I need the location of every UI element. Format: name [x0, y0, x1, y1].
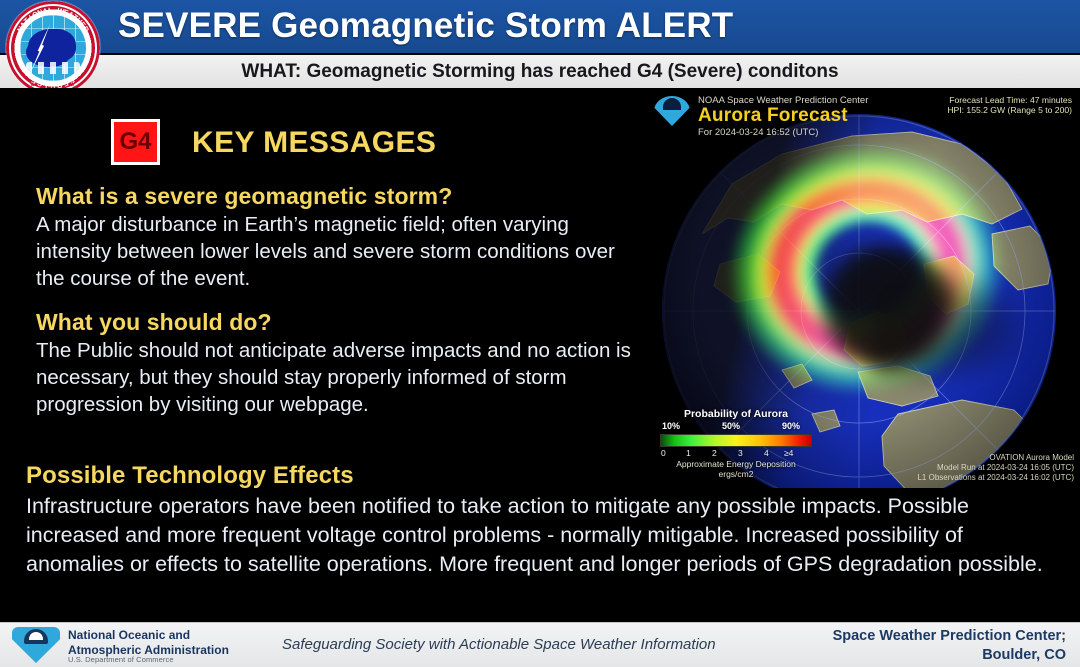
national-weather-service-seal: NATIONAL WEATHERSERVICE: [6, 1, 100, 95]
section-body: A major disturbance in Earth’s magnetic …: [36, 212, 636, 293]
legend-pct-50: 50%: [722, 421, 740, 431]
aurora-forecast-title: Aurora Forecast: [698, 105, 848, 127]
legend-tick-labels: 0 1 2 3 4 ≥4: [660, 448, 812, 460]
status-badge: G4: [111, 119, 160, 165]
aurora-oval-gap: [872, 266, 1022, 386]
key-messages-heading: KEY MESSAGES: [192, 126, 436, 160]
model-run-time: Model Run at 2024-03-24 16:05 (UTC): [937, 463, 1074, 472]
legend-title: Probability of Aurora: [660, 408, 812, 420]
center-location: Boulder, CO: [766, 646, 1066, 665]
legend-tick-0: 0: [661, 448, 666, 458]
department-of-commerce-line: U.S. Department of Commerce: [68, 655, 174, 664]
legend-caption-line2: ergs/cm2: [660, 470, 812, 480]
noaa-logo-icon: [654, 96, 690, 126]
legend-tick-4: 4: [764, 448, 769, 458]
legend-color-bar: [660, 434, 812, 447]
legend-percent-labels: 10% 50% 90%: [660, 421, 812, 433]
noaa-agency-line1: National Oceanic and: [68, 628, 229, 643]
footer-center-info: Space Weather Prediction Center; Boulder…: [766, 627, 1066, 665]
forecast-lead-time: Forecast Lead Time: 47 minutes: [949, 95, 1072, 105]
space-weather-alert-poster: SEVERE Geomagnetic Storm ALERT WHAT: Geo…: [0, 0, 1080, 666]
legend-tick-3: 3: [738, 448, 743, 458]
hemispheric-power-index: HPI: 155.2 GW (Range 5 to 200): [947, 105, 1072, 115]
section-body: The Public should not anticipate adverse…: [36, 338, 636, 419]
noaa-footer-logo-icon: [12, 627, 60, 663]
aurora-probability-legend: Probability of Aurora 10% 50% 90% 0 1 2 …: [660, 408, 812, 480]
section-what-is-storm: What is a severe geomagnetic storm? A ma…: [36, 183, 636, 293]
l1-observation-time: L1 Observations at 2024-03-24 16:02 (UTC…: [917, 473, 1074, 482]
section-heading: What is a severe geomagnetic storm?: [36, 183, 636, 210]
legend-pct-90: 90%: [782, 421, 800, 431]
legend-tick-ge4: ≥4: [784, 448, 793, 458]
seal-letter: L: [48, 5, 53, 14]
legend-pct-10: 10%: [662, 421, 680, 431]
legend-tick-2: 2: [712, 448, 717, 458]
aurora-valid-time: For 2024-03-24 16:52 (UTC): [698, 127, 818, 138]
center-name: Space Weather Prediction Center;: [766, 627, 1066, 646]
footer-tagline: Safeguarding Society with Actionable Spa…: [282, 636, 772, 653]
section-heading: What you should do?: [36, 309, 636, 336]
aurora-oval: [722, 138, 1012, 400]
legend-tick-1: 1: [686, 448, 691, 458]
alert-subtitle: WHAT: Geomagnetic Storming has reached G…: [0, 55, 1080, 88]
footer-bar: National Oceanic and Atmospheric Adminis…: [0, 622, 1080, 667]
aurora-forecast-image: NOAA Space Weather Prediction Center Aur…: [648, 92, 1080, 488]
seal-text-ring: NATIONAL WEATHERSERVICE: [6, 1, 100, 95]
noaa-agency-name: National Oceanic and Atmospheric Adminis…: [68, 628, 229, 657]
section-what-you-should-do: What you should do? The Public should no…: [36, 309, 636, 419]
page-title: SEVERE Geomagnetic Storm ALERT: [118, 6, 733, 46]
section-body: Infrastructure operators have been notif…: [26, 492, 1061, 578]
model-name: OVATION Aurora Model: [989, 453, 1074, 462]
